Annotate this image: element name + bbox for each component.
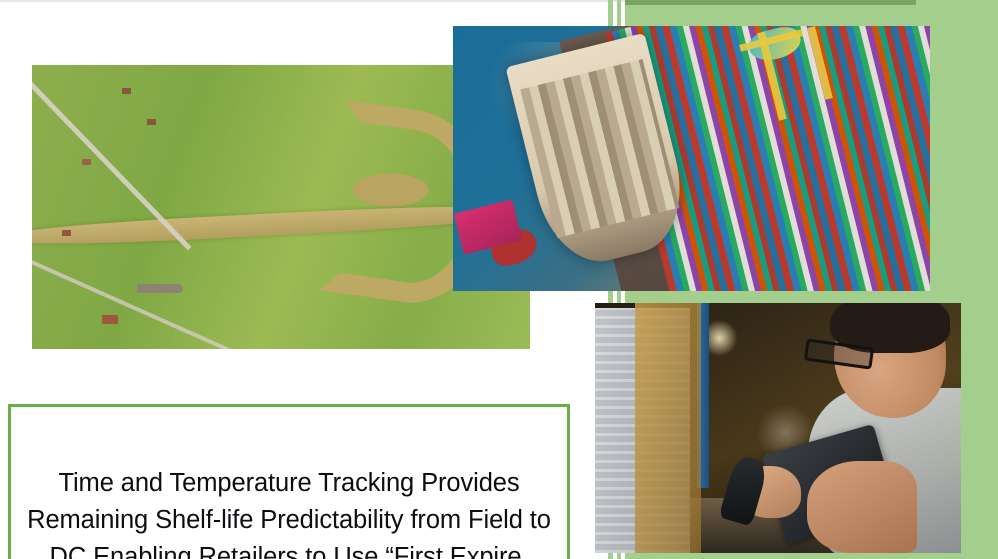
image-warehouse-worker-scanning (595, 303, 961, 553)
farm-house (122, 88, 131, 94)
farm-house (147, 119, 156, 125)
farm-house (82, 159, 91, 165)
panel-top-accent-bar (625, 0, 916, 5)
worker-arm (807, 461, 917, 553)
ship-container-stack (520, 60, 679, 239)
farm-house (62, 230, 71, 236)
image-aerial-shipping-port (453, 26, 930, 291)
caption-text-box: Time and Temperature Tracking Provides R… (8, 404, 570, 559)
farm-house (102, 315, 118, 324)
caption-headline: Time and Temperature Tracking Provides R… (11, 465, 567, 559)
slide-canvas: Time and Temperature Tracking Provides R… (0, 0, 998, 559)
pallet-wrap-film (635, 303, 701, 553)
farm-river-barge (137, 284, 183, 293)
